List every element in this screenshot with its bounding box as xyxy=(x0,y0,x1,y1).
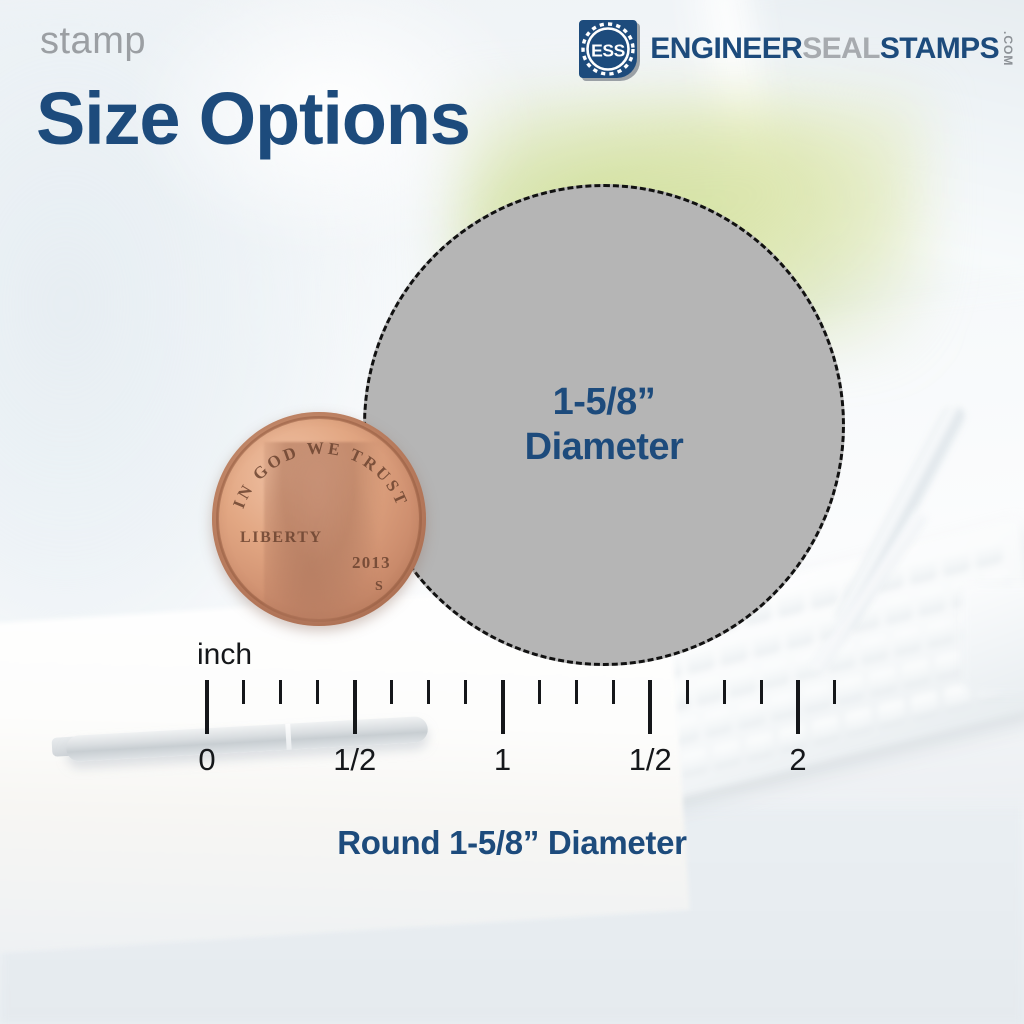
keyboard-key xyxy=(926,618,955,646)
keyboard-key xyxy=(934,650,963,678)
stamp-size-line1: 1-5/8” xyxy=(525,380,684,425)
ess-gear-badge-icon: ESS xyxy=(575,16,641,82)
keyboard-key xyxy=(835,675,864,703)
keyboard-key xyxy=(809,579,838,607)
wordmark-seal: SEAL xyxy=(802,34,880,64)
wordmark-stamps: STAMPS xyxy=(880,34,999,64)
keyboard-key xyxy=(917,586,946,614)
svg-text:ESS: ESS xyxy=(591,41,625,61)
keyboard-key xyxy=(712,740,741,768)
keyboard-key xyxy=(910,690,939,718)
keyboard-key xyxy=(860,635,889,663)
keyboard-key xyxy=(893,626,922,654)
page-kicker: stamp xyxy=(40,22,146,60)
image-canvas: stamp Size Options ESS ENGINEER SEAL STA… xyxy=(0,0,1024,1024)
keyboard-key xyxy=(802,683,831,711)
keyboard-key xyxy=(785,619,814,647)
wordmark-engineer: ENGINEER xyxy=(650,34,802,64)
keyboard-key xyxy=(941,546,970,574)
keyboard-key xyxy=(901,658,930,686)
keyboard-key xyxy=(769,691,798,719)
keyboard-key xyxy=(868,667,897,695)
svg-text:2013: 2013 xyxy=(352,553,391,572)
keyboard-key xyxy=(811,715,840,743)
keyboard-key xyxy=(778,723,807,751)
keyboard-key xyxy=(728,668,757,696)
svg-text:IN GOD WE TRUST: IN GOD WE TRUST xyxy=(229,438,412,511)
keyboard-key xyxy=(844,707,873,735)
keyboard-key xyxy=(761,659,790,687)
keyboard-key xyxy=(719,636,748,664)
brand-logo[interactable]: ESS ENGINEER SEAL STAMPS .COM xyxy=(575,16,1014,82)
svg-text:S: S xyxy=(375,579,383,594)
keyboard-key xyxy=(736,699,765,727)
stamp-shape-round: 1-5/8” Diameter xyxy=(363,184,845,666)
brand-wordmark: ENGINEER SEAL STAMPS .COM xyxy=(650,31,1014,66)
us-penny-coin: IN GOD WE TRUST LIBERTY 2013 S xyxy=(212,412,426,626)
size-caption: Round 1-5/8” Diameter xyxy=(0,824,1024,862)
keyboard-key xyxy=(695,676,724,704)
keyboard-key xyxy=(908,555,937,583)
keyboard-key xyxy=(974,538,1003,566)
stamp-size-line2: Diameter xyxy=(525,425,684,470)
keyboard-key xyxy=(776,587,805,615)
keyboard-key xyxy=(877,698,906,726)
page-title: Size Options xyxy=(36,82,470,156)
keyboard-key xyxy=(703,708,732,736)
keyboard-key xyxy=(752,628,781,656)
wordmark-dotcom: .COM xyxy=(1002,31,1014,66)
keyboard-key xyxy=(745,731,774,759)
stamp-size-label: 1-5/8” Diameter xyxy=(525,380,684,470)
keyboard-key xyxy=(884,595,913,623)
svg-text:LIBERTY: LIBERTY xyxy=(240,529,323,546)
background-cup xyxy=(962,584,1024,694)
keyboard-key xyxy=(679,748,708,776)
